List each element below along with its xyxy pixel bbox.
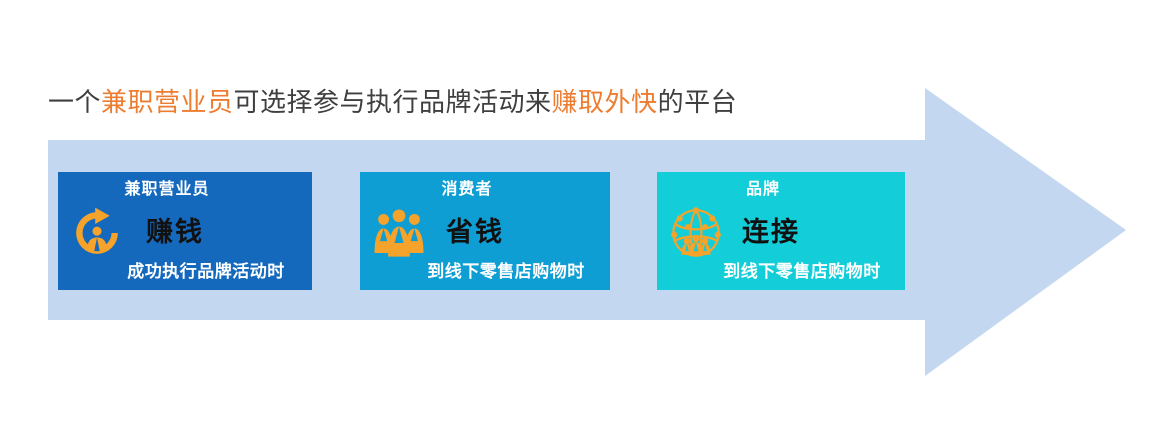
headline-segment-0: 一个 bbox=[48, 88, 101, 117]
headline-segment-1-emphasis: 兼职营业员 bbox=[101, 88, 234, 117]
card-part-time-clerk[interactable]: 兼职营业员 赚钱 成功执行品牌活动时 bbox=[58, 172, 312, 290]
card-role-label: 消费者 bbox=[360, 179, 610, 201]
card-consumer[interactable]: 消费者 省钱 到线下零售店购物时 bbox=[360, 172, 610, 290]
page-title: 一个兼职营业员可选择参与执行品牌活动来赚取外快的平台 bbox=[48, 86, 737, 120]
headline-segment-4: 的平台 bbox=[658, 88, 738, 117]
card-condition-label: 到线下零售店购物时 bbox=[360, 260, 610, 284]
card-benefit-label: 赚钱 bbox=[58, 215, 312, 249]
card-brand[interactable]: 品牌 bbox=[657, 172, 905, 290]
card-role-label: 兼职营业员 bbox=[58, 179, 312, 201]
card-condition-label: 成功执行品牌活动时 bbox=[58, 260, 312, 284]
card-benefit-label: 省钱 bbox=[360, 215, 610, 249]
card-benefit-label: 连接 bbox=[657, 215, 905, 249]
headline-segment-2: 可选择参与执行品牌活动来 bbox=[234, 88, 552, 117]
slide-canvas: 一个兼职营业员可选择参与执行品牌活动来赚取外快的平台 兼职营业员 赚钱 成功执行… bbox=[0, 0, 1150, 430]
card-role-label: 品牌 bbox=[657, 179, 905, 201]
card-condition-label: 到线下零售店购物时 bbox=[657, 260, 905, 284]
headline-segment-3-emphasis: 赚取外快 bbox=[552, 88, 658, 117]
